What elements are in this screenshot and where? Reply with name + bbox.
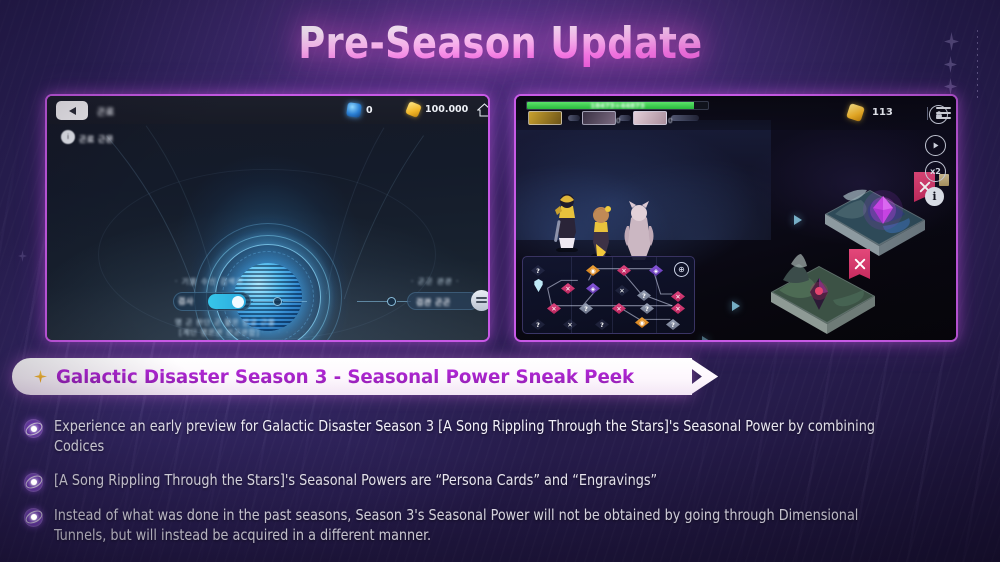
ribbon-tail-decor [690, 358, 718, 395]
path-arrow-marker-3 [702, 336, 710, 342]
list-item: Instead of what was done in the past sea… [24, 505, 984, 546]
party-counter-1: 0 [616, 117, 620, 125]
bullet-text: Instead of what was done in the past sea… [54, 505, 858, 546]
sparkle-decor-3 [944, 78, 957, 95]
orbit-bullet-icon [24, 419, 43, 438]
connector-node-left [273, 297, 282, 306]
character-beast [621, 200, 657, 262]
right-section-pill[interactable]: 검관 곤곤 [407, 292, 479, 310]
screenshot-panel-right: 18473+44873 0 0 113 x2 i [514, 94, 958, 342]
party-portrait-2[interactable] [582, 111, 616, 125]
left-panel-screen-label: 곤료 [97, 105, 115, 118]
magnifier-icon [175, 341, 182, 342]
party-counter-2: 0 [668, 117, 672, 125]
connector-node-right [387, 297, 396, 306]
bullet-text: Experience an early preview for Galactic… [54, 416, 910, 457]
slider-handle-icon[interactable] [471, 290, 490, 311]
four-point-star-icon [34, 370, 47, 383]
info-circle-icon: i [61, 130, 75, 144]
left-section-toggle-row[interactable]: 검사 [173, 292, 251, 311]
left-panel-topbar: 곤료 0 100.000 [47, 96, 488, 124]
left-panel-breadcrumb: 곤료 근몬 [79, 134, 114, 145]
info-label: i [932, 190, 936, 203]
gold-coin-icon [846, 103, 865, 122]
bottom-dots-decor: · · · · · · · · · · · · [220, 329, 315, 336]
connector-line-left2 [283, 301, 307, 302]
gem-value: 0 [366, 105, 373, 116]
sparkle-decor-5 [18, 250, 27, 262]
home-icon[interactable] [477, 103, 490, 117]
connector-line-left [253, 301, 275, 302]
left-section-header: · 기물 수신 검색관 · [175, 276, 251, 287]
party-portrait-1[interactable] [528, 111, 562, 125]
character-knight [552, 190, 582, 252]
node-map-links [523, 257, 694, 333]
stage-node-map[interactable]: ✕ ◉ ◈ ✕ ◈ ? ✕ ✕ ? ✕ ? ✕ ◉ ? ? ? ✕ ? ✕ ⊕ [522, 256, 695, 334]
orbit-bullet-icon [24, 508, 43, 527]
screenshot-panel-left: 곤료 0 100.000 i 곤료 근몬 · 기물 수신 검색관 · 검사 [45, 94, 490, 342]
speed-x2-icon[interactable]: x2 [925, 161, 946, 182]
party-portrait-3[interactable] [633, 111, 667, 125]
title-container: Pre-Season Update [0, 18, 1000, 69]
boss-hp-bar: 18473+44873 [526, 101, 709, 110]
right-topbar-divider [927, 107, 928, 120]
party-bar-3 [671, 115, 699, 121]
info-circle-icon[interactable]: i [925, 187, 944, 206]
character-archer [586, 202, 616, 258]
left-section-option[interactable]: 판단 곤관 유판 [175, 339, 241, 342]
toggle-switch[interactable] [208, 294, 246, 309]
toggle-label: 검사 [178, 296, 194, 307]
play-circle-icon[interactable] [925, 135, 946, 156]
right-section-pill-label: 검관 곤곤 [416, 297, 451, 308]
bullet-text: [A Song Rippling Through the Stars]'s Se… [54, 470, 657, 490]
section-ribbon-label: Galactic Disaster Season 3 - Seasonal Po… [56, 366, 634, 388]
path-arrow-marker-2 [732, 301, 740, 311]
right-section-header: · 곤곤 관관 · [411, 276, 460, 287]
boss-hp-value: 18473+44873 [527, 102, 708, 110]
promo-slide: Pre-Season Update 곤료 0 [0, 0, 1000, 562]
right-coin-value: 113 [872, 107, 893, 118]
list-item: Experience an early preview for Galactic… [24, 416, 984, 457]
list-item: [A Song Rippling Through the Stars]'s Se… [24, 470, 984, 492]
party-bar-1 [568, 115, 580, 121]
right-panel-topbar: 18473+44873 0 0 113 [516, 96, 956, 130]
blue-gem-icon [346, 102, 362, 118]
option-label: 판단 곤관 유판 [187, 339, 241, 342]
section-ribbon: Galactic Disaster Season 3 - Seasonal Po… [12, 358, 692, 395]
connector-line-right [357, 301, 387, 302]
hamburger-menu-icon[interactable] [936, 107, 951, 119]
zoom-in-icon[interactable]: ⊕ [674, 262, 689, 277]
coin-currency[interactable]: 100.000 [407, 103, 468, 116]
speed-x2-label: x2 [930, 167, 941, 176]
back-arrow-icon[interactable] [56, 101, 88, 120]
bullet-list: Experience an early preview for Galactic… [24, 416, 984, 559]
gold-coin-icon [405, 101, 422, 118]
coin-value: 100.000 [425, 104, 468, 115]
path-arrow-marker-1 [794, 215, 802, 225]
gem-currency[interactable]: 0 [347, 103, 373, 117]
page-title: Pre-Season Update [298, 18, 702, 69]
party-bar-2 [619, 115, 631, 121]
orbit-bullet-icon [24, 473, 43, 492]
